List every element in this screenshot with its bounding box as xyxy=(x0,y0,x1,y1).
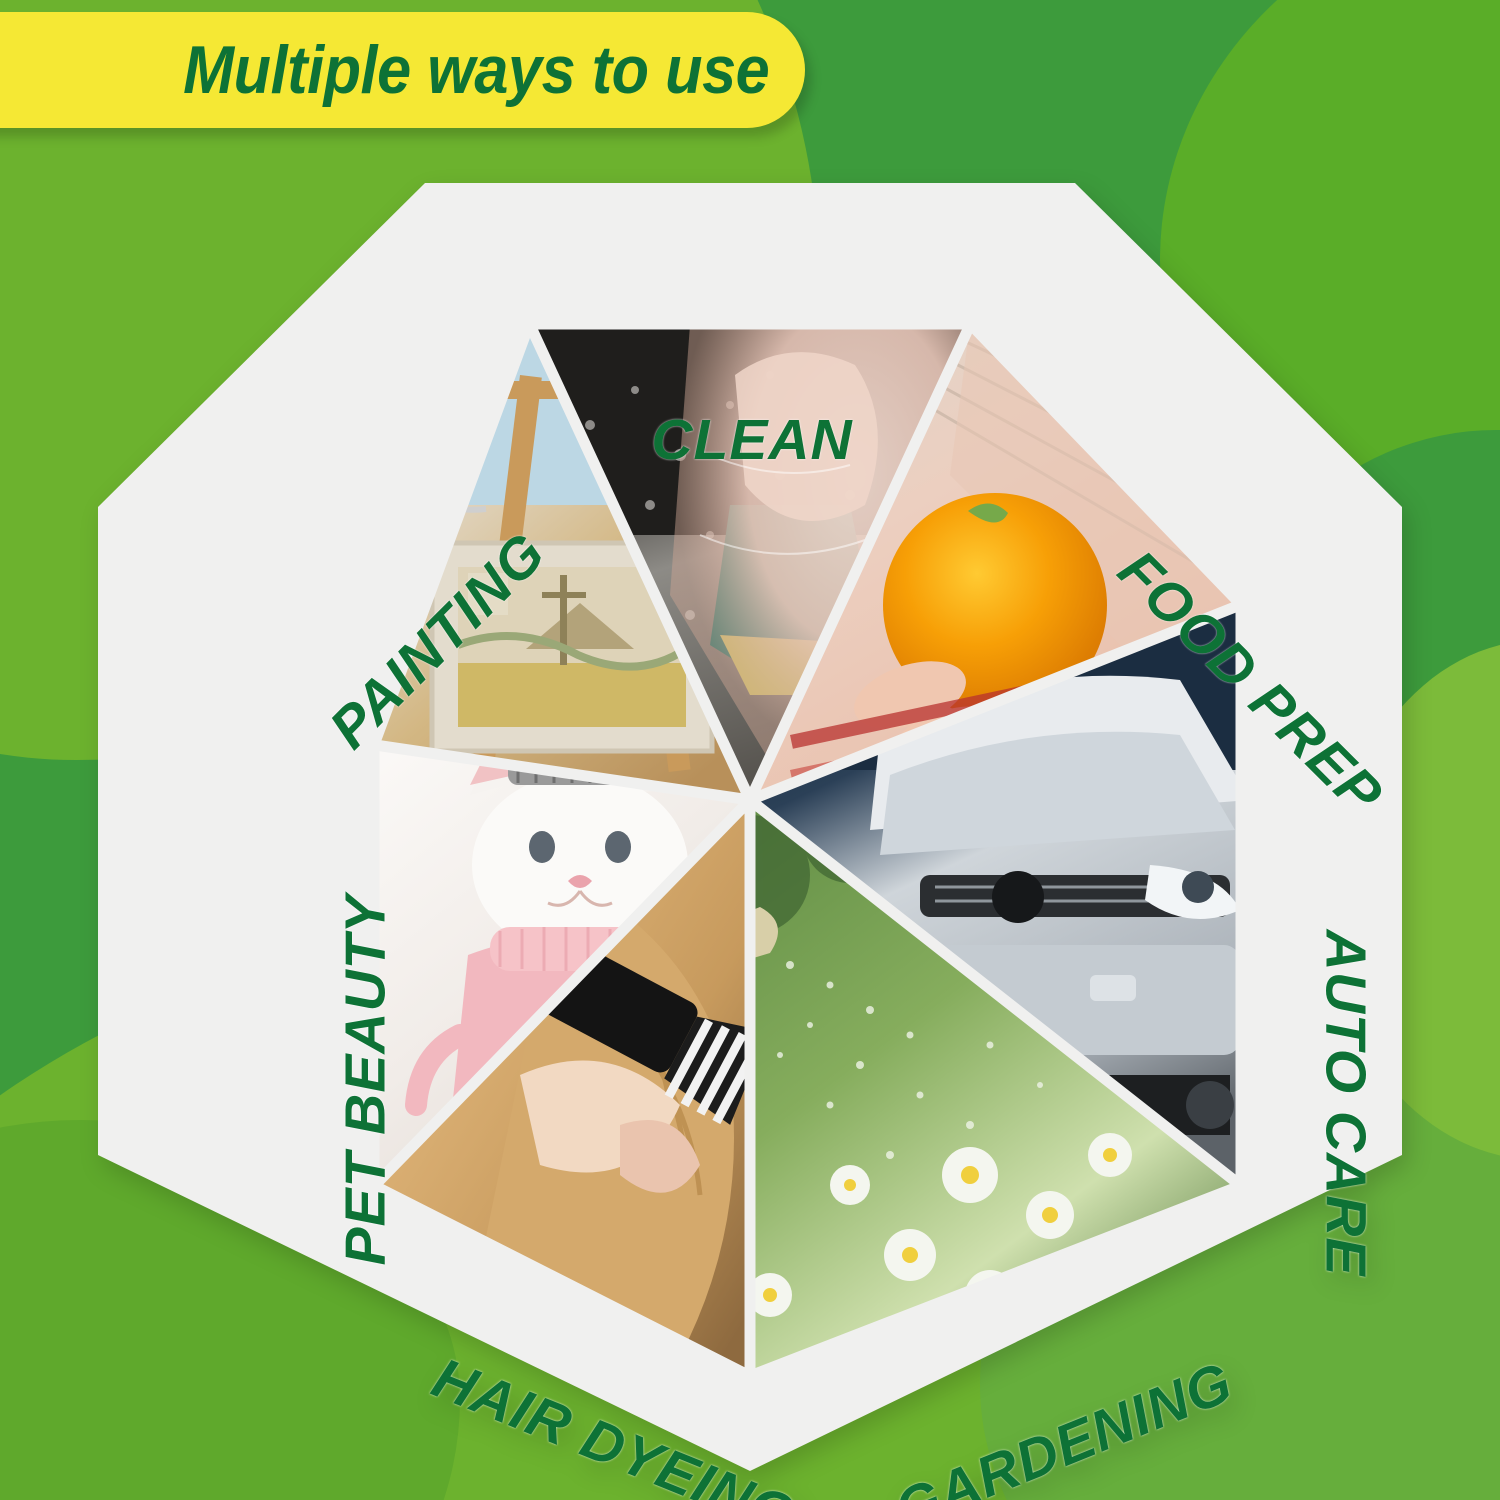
segment-label-pet-beauty: PET BEAUTY xyxy=(338,894,395,1265)
title-banner: Multiple ways to use xyxy=(0,12,805,128)
segment-label-auto-care: AUTO CARE xyxy=(1317,930,1374,1277)
infographic-canvas: Multiple ways to use xyxy=(0,0,1500,1500)
collage-svg xyxy=(90,175,1410,1475)
page-title: Multiple ways to use xyxy=(183,36,769,104)
octagon-collage: CLEAN FOOD PREP AUTO CARE GARDENING HAIR… xyxy=(90,175,1410,1475)
segment-label-clean: CLEAN xyxy=(651,412,852,469)
